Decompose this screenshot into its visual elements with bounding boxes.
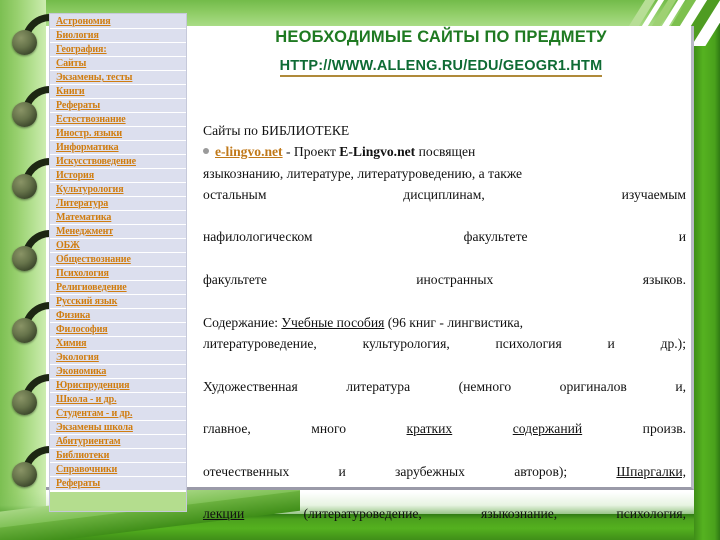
content-text-4a: главное, много [203, 421, 407, 436]
sidebar-item[interactable]: Экзамены, тесты [50, 71, 186, 85]
kratkih-underline: кратких [407, 421, 453, 436]
soderzhanij-underline: содержаний [513, 421, 582, 436]
content-line-5: отечественных и зарубежных авторов); Шпа… [203, 461, 686, 504]
content-text-1: (96 книг - лингвистика, [384, 315, 523, 330]
e-lingvo-link[interactable]: e-lingvo.net [215, 144, 283, 159]
sidebar-item[interactable]: Рефераты [50, 477, 186, 491]
sidebar-item[interactable]: Юриспруденция [50, 379, 186, 393]
sidebar-item[interactable]: Менеджмент [50, 225, 186, 239]
content-line-2: литературоведение, культурология, психол… [203, 333, 686, 376]
body-lead: Сайты по БИБЛИОТЕКЕ [203, 120, 686, 141]
content-line-6: лекции (литературоведение, языкознание, … [203, 503, 686, 540]
slide: АстрономияБиологияГеография:СайтыЭкзамен… [0, 0, 720, 540]
content-line-1: Содержание: Учебные пособия (96 книг - л… [203, 312, 686, 333]
sidebar-item[interactable]: Экология [50, 351, 186, 365]
sidebar-item[interactable]: Экономика [50, 365, 186, 379]
article-body: Сайты по БИБЛИОТЕКЕ e-lingvo.net - Проек… [203, 120, 686, 540]
sidebar-item[interactable]: ОБЖ [50, 239, 186, 253]
sidebar-item[interactable]: Религиоведение [50, 281, 186, 295]
link-line: e-lingvo.net - Проект E-Lingvo.net посвя… [203, 141, 686, 162]
sidebar-item[interactable]: Математика [50, 211, 186, 225]
sidebar-item[interactable]: Философия [50, 323, 186, 337]
sidebar-item[interactable]: Книги [50, 85, 186, 99]
sidebar-item[interactable]: История [50, 169, 186, 183]
source-url-text: HTTP://WWW.ALLENG.RU/EDU/GEOGR1.HTM [280, 58, 603, 77]
shpargalki-underline: Шпаргалки, [616, 464, 686, 479]
sidebar-item[interactable]: Русский язык [50, 295, 186, 309]
project-name: E-Lingvo.net [339, 144, 415, 159]
sidebar-item[interactable]: Экзамены школа [50, 421, 186, 435]
content-line-3: Художественная литература (немного ориги… [203, 376, 686, 419]
sidebar-item[interactable]: Искусствоведение [50, 155, 186, 169]
sidebar-item[interactable]: Психология [50, 267, 186, 281]
sidebar-item[interactable]: Сайты [50, 57, 186, 71]
sidebar-item[interactable]: Химия [50, 337, 186, 351]
after-project-text: посвящен [415, 144, 475, 159]
bullet-icon [203, 148, 209, 154]
content-text-5a: отечественных и зарубежных авторов); [203, 464, 616, 479]
sidebar-item[interactable]: Астрономия [50, 15, 186, 29]
paragraph-line-4: факультете иностранных языков. [203, 269, 686, 312]
sidebar-item[interactable]: Справочники [50, 463, 186, 477]
sidebar-item[interactable]: Естествознание [50, 113, 186, 127]
sidebar-item[interactable]: Абитуриентам [50, 435, 186, 449]
sidebar-item[interactable]: Физика [50, 309, 186, 323]
paragraph-line-1: языкознанию, литературе, литературоведен… [203, 163, 686, 184]
content-label: Содержание: [203, 315, 281, 330]
sidebar-footer-block [50, 491, 186, 511]
sidebar-item[interactable]: География: [50, 43, 186, 57]
content-text-4c: произв. [582, 421, 686, 436]
content-text-6: (литературоведение, языкознание, психоло… [244, 506, 686, 521]
sidebar-item[interactable]: Рефераты [50, 99, 186, 113]
page-title: НЕОБХОДИМЫЕ САЙТЫ ПО ПРЕДМЕТУ [196, 28, 686, 47]
paragraph-line-2: остальным дисциплинам, изучаемым [203, 184, 686, 227]
sidebar-item[interactable]: Иностр. языки [50, 127, 186, 141]
sidebar-item[interactable]: Школа - и др. [50, 393, 186, 407]
source-url[interactable]: HTTP://WWW.ALLENG.RU/EDU/GEOGR1.HTM [196, 58, 686, 74]
sidebar-item[interactable]: Информатика [50, 141, 186, 155]
after-link-text: - Проект [283, 144, 340, 159]
sidebar-item[interactable]: Биология [50, 29, 186, 43]
content-text-4b [452, 421, 513, 436]
right-green-band [694, 0, 720, 540]
subject-sidebar-nav[interactable]: АстрономияБиологияГеография:СайтыЭкзамен… [49, 13, 187, 512]
sidebar-item[interactable]: Культурология [50, 183, 186, 197]
sidebar-item[interactable]: Студентам - и др. [50, 407, 186, 421]
content-line-4: главное, много кратких содержаний произв… [203, 418, 686, 461]
sidebar-item[interactable]: Обществознание [50, 253, 186, 267]
lekcii-underline: лекции [203, 506, 244, 521]
sidebar-item[interactable]: Литература [50, 197, 186, 211]
sidebar-item[interactable]: Библиотеки [50, 449, 186, 463]
paragraph-line-3: нафилологическом факультете и [203, 226, 686, 269]
uchebnye-posobiya-underline: Учебные пособия [281, 315, 384, 330]
